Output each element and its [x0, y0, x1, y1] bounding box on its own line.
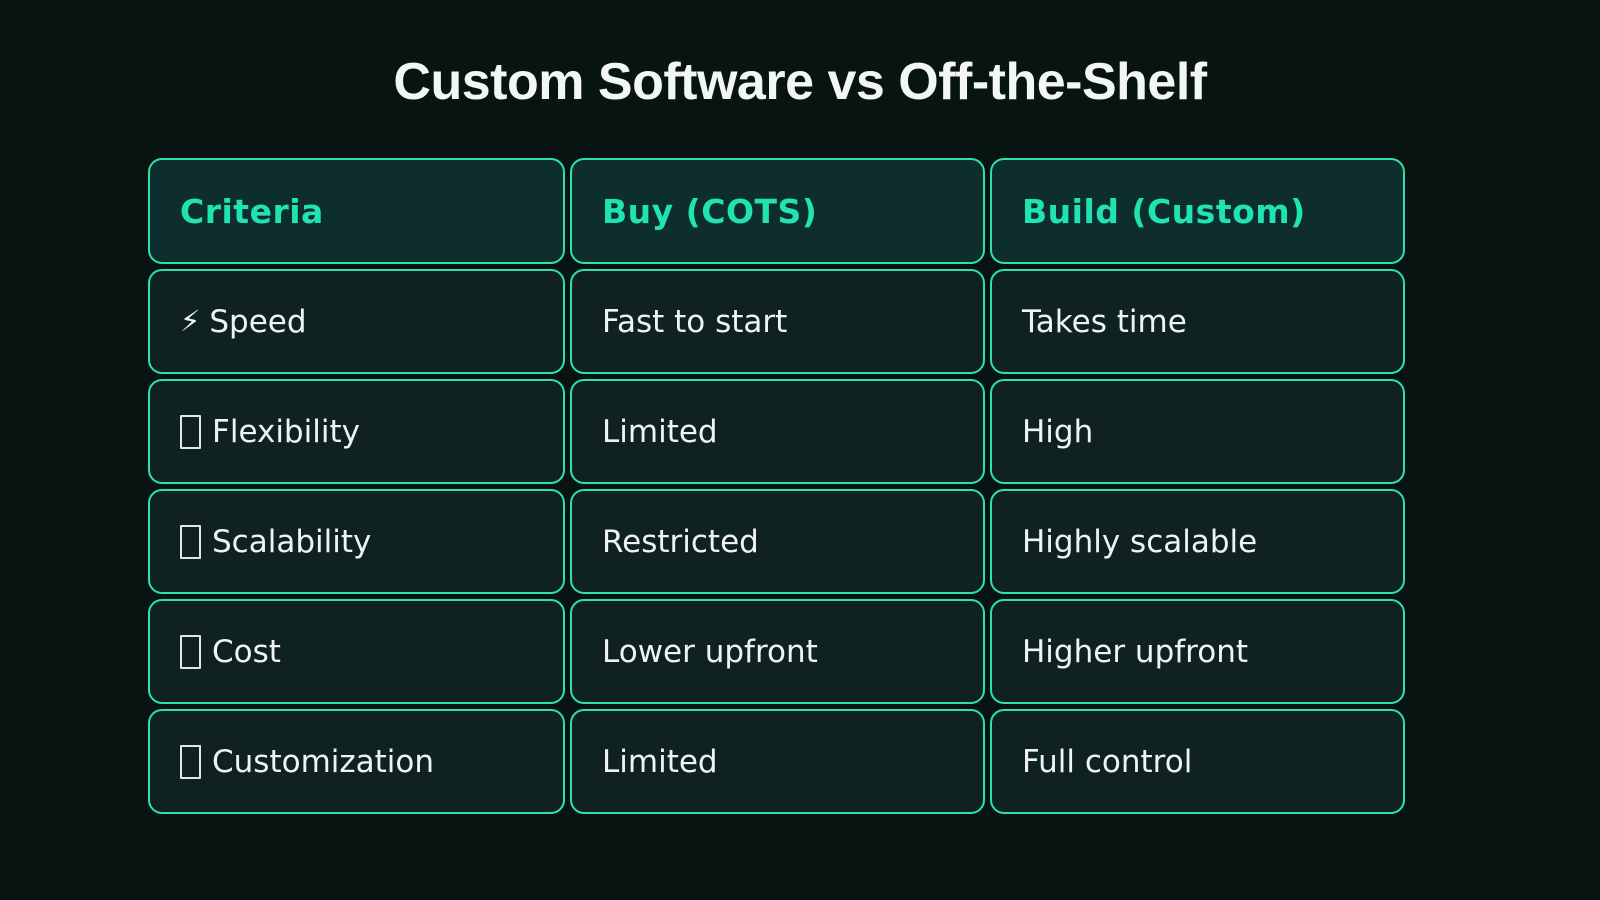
buy-value: Limited [602, 414, 718, 450]
table-cell-criteria: Cost [148, 599, 565, 704]
criteria-label: Scalability [180, 524, 371, 560]
table-row: Cost Lower upfront Higher upfront [148, 599, 1410, 704]
criteria-text: Flexibility [212, 414, 360, 450]
slide-canvas: Custom Software vs Off-the-Shelf Criteri… [0, 0, 1600, 900]
table-header-cell-build: Build (Custom) [990, 158, 1405, 264]
criteria-label: ⚡ Speed [180, 304, 307, 340]
table-cell-buy: Limited [570, 379, 985, 484]
page-title: Custom Software vs Off-the-Shelf [0, 52, 1600, 112]
criteria-text: Customization [212, 744, 434, 780]
table-cell-build: Highly scalable [990, 489, 1405, 594]
buy-value: Lower upfront [602, 634, 818, 670]
table-header-row: Criteria Buy (COTS) Build (Custom) [148, 158, 1410, 264]
criteria-text: Speed [209, 304, 306, 340]
comparison-table: Criteria Buy (COTS) Build (Custom) ⚡ Spe… [148, 158, 1410, 814]
high-voltage-icon: ⚡ [180, 307, 200, 336]
table-header-cell-criteria: Criteria [148, 158, 565, 264]
buy-value: Fast to start [602, 304, 787, 340]
table-header-cell-buy: Buy (COTS) [570, 158, 985, 264]
criteria-label: Cost [180, 634, 281, 670]
table-cell-build: Higher upfront [990, 599, 1405, 704]
table-cell-criteria: ⚡ Speed [148, 269, 565, 374]
table-header-label: Build (Custom) [1022, 192, 1306, 231]
criteria-text: Scalability [212, 524, 371, 560]
missing-glyph-icon [180, 635, 201, 669]
build-value: Highly scalable [1022, 524, 1257, 560]
table-cell-buy: Limited [570, 709, 985, 814]
build-value: High [1022, 414, 1093, 450]
table-row: Customization Limited Full control [148, 709, 1410, 814]
buy-value: Restricted [602, 524, 759, 560]
criteria-label: Flexibility [180, 414, 360, 450]
table-header-label: Buy (COTS) [602, 192, 817, 231]
criteria-text: Cost [212, 634, 281, 670]
criteria-label: Customization [180, 744, 434, 780]
buy-value: Limited [602, 744, 718, 780]
table-cell-criteria: Flexibility [148, 379, 565, 484]
table-cell-criteria: Scalability [148, 489, 565, 594]
table-cell-criteria: Customization [148, 709, 565, 814]
build-value: Higher upfront [1022, 634, 1248, 670]
build-value: Takes time [1022, 304, 1187, 340]
missing-glyph-icon [180, 525, 201, 559]
table-cell-buy: Restricted [570, 489, 985, 594]
missing-glyph-icon [180, 415, 201, 449]
table-cell-build: Full control [990, 709, 1405, 814]
table-row: ⚡ Speed Fast to start Takes time [148, 269, 1410, 374]
missing-glyph-icon [180, 745, 201, 779]
table-row: Scalability Restricted Highly scalable [148, 489, 1410, 594]
build-value: Full control [1022, 744, 1192, 780]
table-cell-buy: Lower upfront [570, 599, 985, 704]
table-row: Flexibility Limited High [148, 379, 1410, 484]
table-cell-buy: Fast to start [570, 269, 985, 374]
table-header-label: Criteria [180, 192, 324, 231]
table-cell-build: High [990, 379, 1405, 484]
table-cell-build: Takes time [990, 269, 1405, 374]
